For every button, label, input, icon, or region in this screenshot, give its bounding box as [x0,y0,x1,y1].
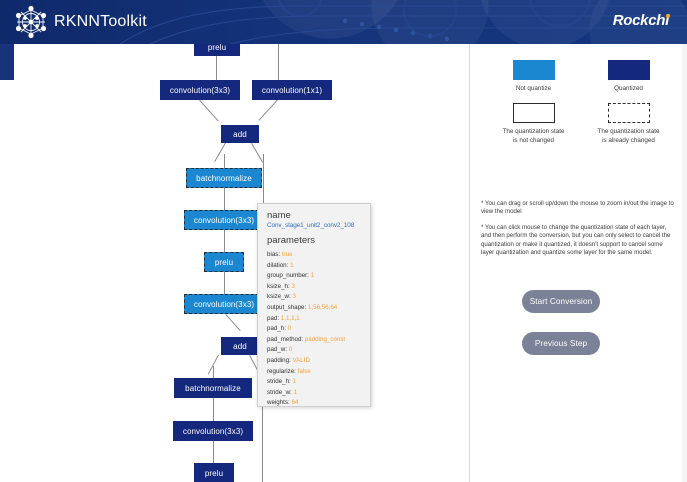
param-value: VALID [292,357,309,364]
param-key: pad_h: [267,325,286,332]
graph-node-prelu[interactable]: prelu [194,44,240,56]
legend-swatch-dashed-border-icon [608,103,650,123]
param-key: stride_h: [267,378,291,385]
tooltip-params-list: bias: true dilation: 1 group_number: 1 k… [267,250,362,407]
param-row: pad_w: 0 [267,345,362,356]
graph-node-convolution-3x3[interactable]: convolution(3x3) [160,80,240,100]
param-row: pad: 1,1,1,1 [267,314,362,325]
legend-item-state-changed: The quantization state is already change… [581,103,676,145]
param-value: 1 [311,272,314,279]
param-value: false [298,368,311,375]
param-key: pad_method: [267,336,303,343]
param-value: 1,56,56,64 [308,304,337,311]
legend-label: The quantization state is not changed [486,128,581,145]
param-row: pad_h: 0 [267,324,362,335]
param-value: true [282,251,293,258]
node-label: prelu [208,44,226,52]
legend-swatch-not-quantize-icon [513,60,555,80]
param-row: pad_method: padding_const [267,335,362,346]
param-value: 1,1,1,1 [281,315,300,322]
param-key: bias: [267,251,280,258]
rknn-toolkit-window: RKNNToolkit Rockchi prelu convolution(3x… [0,0,687,482]
node-label: convolution(3x3) [194,300,254,309]
param-value: 0 [288,325,291,332]
rockchip-dot-icon [666,14,670,18]
param-row: weights: 64 [267,398,362,407]
graph-node-add[interactable]: add [221,125,259,143]
param-value: 64 [291,399,298,406]
param-value: padding_const [305,336,345,343]
tooltip-params-heading: parameters [267,235,362,246]
node-label: convolution(3x3) [170,86,230,95]
param-row: dilation: 1 [267,261,362,272]
graph-edge [224,154,225,168]
param-value: 3 [291,283,294,290]
app-title: RKNNToolkit [54,13,147,31]
param-key: group_number: [267,272,309,279]
param-row: bias: true [267,250,362,261]
node-label: convolution(3x3) [194,216,254,225]
node-label: add [233,130,247,139]
param-key: output_shape: [267,304,306,311]
param-row: group_number: 1 [267,271,362,282]
param-key: ksize_w: [267,293,291,300]
graph-edge [259,99,278,120]
graph-edge [225,314,240,331]
param-row: output_shape: 1,56,56,64 [267,303,362,314]
param-row: stride_w: 1 [267,388,362,399]
param-key: ksize_h: [267,283,290,290]
node-label: add [233,342,247,351]
legend-swatch-quantized-icon [608,60,650,80]
node-label: batchnormalize [185,384,241,393]
model-graph-canvas[interactable]: prelu convolution(3x3) convolution(1x1) … [14,44,469,482]
param-key: padding: [267,357,291,364]
vertical-scrollbar[interactable] [682,44,687,482]
graph-edge [224,188,225,210]
param-value: 3 [292,293,295,300]
graph-node-convolution-1x1[interactable]: convolution(1x1) [252,80,332,100]
rockchip-logo: Rockchi [613,12,673,29]
header-left-band [0,44,14,80]
note-zoom-instructions: * You can drag or scroll up/down the mou… [481,200,677,217]
graph-edge [224,272,225,294]
graph-edge [213,366,214,378]
param-key: dilation: [267,262,288,269]
graph-node-convolution-3x3[interactable]: convolution(3x3) [184,210,264,230]
param-key: weights: [267,399,290,406]
param-key: pad_w: [267,346,287,353]
param-row: ksize_w: 3 [267,292,362,303]
start-conversion-button[interactable]: Start Conversion [522,290,600,313]
graph-node-batchnormalize[interactable]: batchnormalize [186,168,262,188]
graph-node-batchnormalize[interactable]: batchnormalize [174,378,252,398]
legend-label: The quantization state is already change… [581,128,676,145]
rockchip-wordmark: Rockchi [613,12,669,29]
node-label: prelu [205,469,223,478]
rknn-network-logo-icon [14,5,48,39]
graph-edge [216,56,217,80]
param-value: 1 [290,262,293,269]
tooltip-node-name: Conv_stage1_unit2_conv2_108 [267,222,362,229]
param-value: 1 [294,389,297,396]
graph-edge [251,143,263,163]
graph-edge [213,441,214,463]
param-key: stride_w: [267,389,292,396]
graph-edge [278,44,279,80]
legend-label: Quantized [581,85,676,93]
param-row: stride_h: 1 [267,377,362,388]
param-row: ksize_h: 3 [267,282,362,293]
param-value: 0 [289,346,292,353]
graph-node-convolution-3x3[interactable]: convolution(3x3) [184,294,264,314]
graph-node-prelu[interactable]: prelu [194,463,234,482]
legend-swatch-solid-border-icon [513,103,555,123]
previous-step-button[interactable]: Previous Step [522,332,600,355]
node-label: convolution(3x3) [183,427,243,436]
node-label: batchnormalize [196,174,252,183]
graph-edge [224,230,225,252]
brand: RKNNToolkit [14,5,147,39]
legend-item-quantized: Quantized [581,60,676,93]
param-key: pad: [267,315,279,322]
node-label: convolution(1x1) [262,86,322,95]
tooltip-name-heading: name [267,210,362,221]
param-row: regularize: false [267,367,362,378]
right-panel: Not quantize Quantized The quantization … [470,44,687,482]
param-row: padding: VALID [267,356,362,367]
app-header: RKNNToolkit Rockchi [0,0,687,44]
legend-label: Not quantize [486,85,581,93]
param-value: 1 [292,378,295,385]
node-details-tooltip: name Conv_stage1_unit2_conv2_108 paramet… [257,203,371,407]
graph-edge [213,398,214,421]
note-quantization-instructions: * You can click mouse to change the quan… [481,224,677,257]
legend-item-state-unchanged: The quantization state is not changed [486,103,581,145]
legend-item-not-quantize: Not quantize [486,60,581,93]
node-label: prelu [215,258,233,267]
graph-node-add[interactable]: add [221,337,259,355]
param-key: regularize: [267,368,296,375]
graph-edge [199,100,218,121]
graph-node-convolution-3x3[interactable]: convolution(3x3) [173,421,253,441]
legend: Not quantize Quantized The quantization … [486,60,676,145]
graph-node-prelu[interactable]: prelu [204,252,244,272]
